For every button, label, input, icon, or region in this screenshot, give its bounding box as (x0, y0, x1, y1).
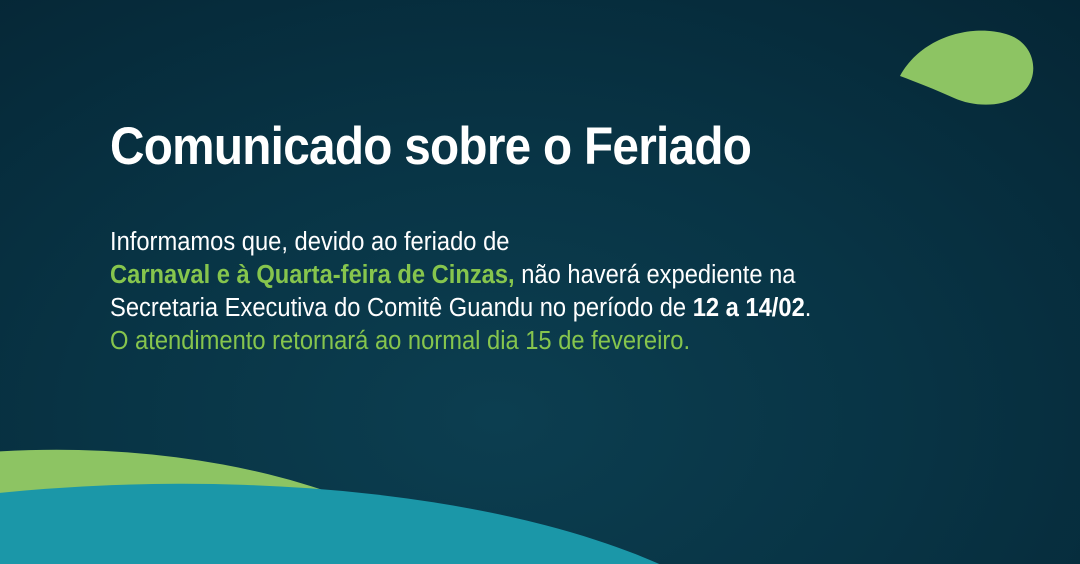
body-line-4: O atendimento retornará ao normal dia 15… (110, 325, 975, 358)
return-date-note: O atendimento retornará ao normal dia 15… (110, 327, 690, 355)
announcement-body: Informamos que, devido ao feriado de Car… (110, 226, 1040, 358)
body-line-3: Secretaria Executiva do Comitê Guandu no… (110, 292, 975, 325)
body-line-3-text: Secretaria Executiva do Comitê Guandu no… (110, 294, 693, 322)
teal-hill-shape (0, 459, 808, 564)
page-title: Comunicado sobre o Feriado (110, 116, 751, 177)
holiday-name-highlight: Carnaval e à Quarta-feira de Cinzas, (110, 261, 515, 289)
body-line-2: Carnaval e à Quarta-feira de Cinzas, não… (110, 259, 975, 292)
leaf-blob-icon (898, 28, 1038, 106)
closure-dates: 12 a 14/02 (693, 294, 805, 322)
body-line-2-text: não haverá expediente na (515, 261, 796, 289)
body-line-1-text: Informamos que, devido ao feriado de (110, 228, 509, 256)
green-hill-shape (0, 436, 546, 564)
holiday-announcement-poster: Comunicado sobre o Feriado Informamos qu… (0, 0, 1080, 564)
body-line-3-period: . (805, 294, 812, 322)
body-line-1: Informamos que, devido ao feriado de (110, 226, 975, 259)
